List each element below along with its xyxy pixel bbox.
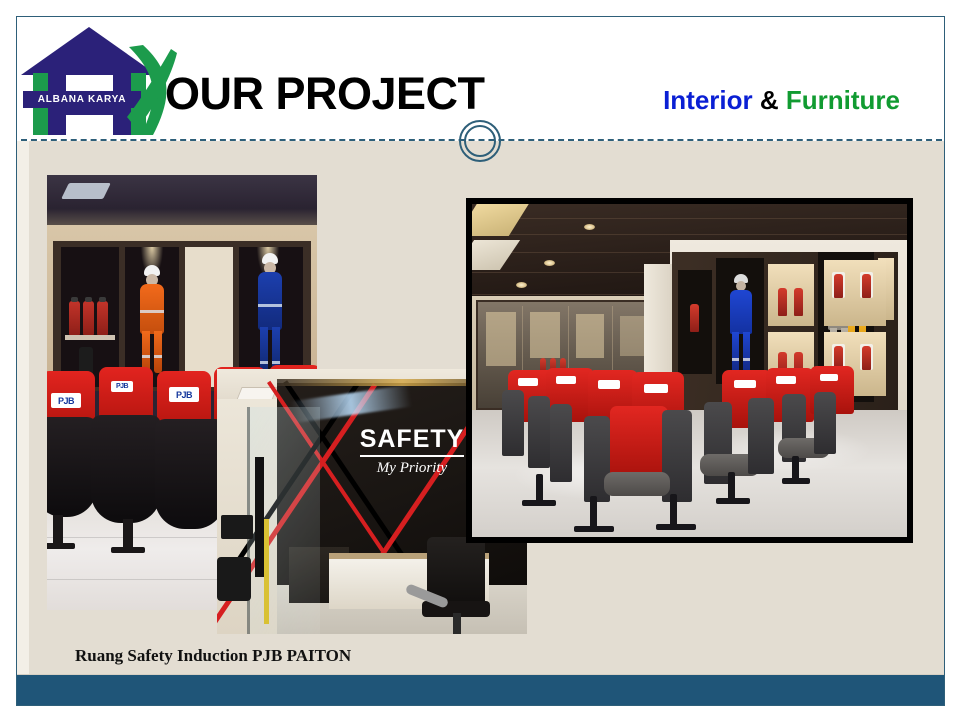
render-seat-side — [814, 392, 836, 454]
fire-extinguisher-icon — [83, 301, 94, 335]
seat-brand-logo — [518, 378, 538, 386]
render-skylight-secondary — [466, 240, 520, 270]
seat-brand-logo: PJB — [51, 393, 81, 408]
seat-brand-logo: PJB — [169, 387, 199, 402]
lobby-yellow-edge — [264, 519, 269, 624]
auditorium-seat-base — [91, 415, 161, 523]
slide-header: ALBANA KARYA OUR PROJECT Interior & Furn… — [17, 17, 944, 141]
seat-brand-logo — [734, 380, 756, 388]
lobby-black-post — [255, 457, 264, 577]
render-seat-side — [748, 398, 774, 474]
render-seat-foot — [716, 498, 750, 504]
cabinet-bay — [678, 270, 712, 374]
room-ceiling — [47, 175, 317, 231]
subtitle-furniture: Furniture — [786, 85, 900, 115]
mannequin-orange-coverall — [137, 265, 167, 373]
render-seat-frame — [590, 496, 597, 530]
slide-canvas: PJB PJB PJB PJB — [17, 141, 944, 674]
cabinet-bay — [716, 258, 764, 384]
fire-extinguisher-icon — [862, 346, 871, 370]
mannequin-blue-coverall — [255, 253, 285, 379]
cabinet-shelf — [65, 335, 115, 340]
seat-brand-logo: PJB — [111, 381, 133, 392]
lobby-equipment-box — [221, 515, 253, 539]
seat-brand-logo — [556, 376, 576, 384]
seat-foot — [47, 543, 75, 549]
fire-extinguisher-icon — [690, 304, 699, 332]
ceiling-light-panel — [61, 183, 111, 199]
ceiling-downlight-icon — [544, 260, 555, 266]
render-seat-foot — [782, 478, 810, 484]
render-seat-side — [502, 390, 524, 456]
fire-extinguisher-icon — [862, 274, 871, 298]
cabinet-niche-orange-mannequin — [125, 247, 179, 387]
seat-pedestal — [123, 519, 133, 549]
auditorium-seat-base — [155, 419, 225, 529]
mannequin-torso — [258, 272, 282, 330]
render-seat-foot — [574, 526, 614, 532]
office-chair-stem — [453, 613, 461, 634]
page-title: OUR PROJECT — [165, 68, 485, 120]
slide-footer-bar — [17, 674, 944, 706]
cabinet-niche-extinguishers — [61, 247, 119, 387]
render-seat-side — [550, 404, 572, 482]
lobby-equipment-case — [217, 557, 251, 601]
render-seat-back — [610, 406, 668, 478]
fire-extinguisher-icon — [834, 274, 843, 298]
render-seat-frame — [792, 456, 799, 480]
subtitle-separator: & — [760, 85, 779, 115]
presentation-slide: ALBANA KARYA OUR PROJECT Interior & Furn… — [16, 16, 945, 706]
mannequin-torso — [730, 290, 752, 334]
seat-brand-logo — [644, 384, 668, 393]
albana-karya-logo: ALBANA KARYA — [21, 25, 157, 137]
seat-brand-logo — [598, 380, 620, 389]
canvas-left-strip — [17, 141, 29, 674]
seat-brand-logo — [776, 376, 796, 384]
render-seat-cushion — [604, 472, 670, 496]
header-subtitle: Interior & Furniture — [663, 85, 900, 116]
wall-sign-line2: My Priority — [357, 460, 467, 477]
cabinet-niche-light-panel — [185, 247, 233, 387]
logo-banner-text: ALBANA KARYA — [23, 91, 141, 108]
divider-circle-ornament — [459, 120, 501, 162]
mannequin-torso — [140, 284, 164, 334]
slide-caption: Ruang Safety Induction PJB PAITON — [75, 646, 351, 666]
seat-brand-logo — [820, 374, 838, 381]
fire-extinguisher-icon — [778, 288, 787, 316]
render-seat-side — [528, 396, 550, 468]
render-extinguisher-display-upper — [824, 260, 886, 326]
seat-foot — [111, 547, 145, 553]
mannequin-blue-coverall — [728, 274, 754, 370]
auditorium-seat-base — [47, 417, 97, 517]
wall-sign-safety: SAFETY My Priority — [357, 425, 467, 477]
photo-3d-render-auditorium[interactable] — [466, 198, 913, 543]
render-seat-frame — [670, 494, 677, 528]
fire-extinguisher-icon — [97, 301, 108, 335]
render-seat-foot — [656, 524, 696, 530]
render-seat-frame — [536, 474, 543, 502]
ceiling-downlight-icon — [584, 224, 595, 230]
fire-extinguisher-icon — [794, 288, 803, 316]
ceiling-downlight-icon — [516, 282, 527, 288]
mannequin-legs — [732, 332, 750, 370]
subtitle-interior: Interior — [663, 85, 753, 115]
render-seat-foot — [522, 500, 556, 506]
render-seat-frame — [728, 472, 735, 500]
wall-sign-line1: SAFETY — [360, 425, 465, 457]
seat-pedestal — [53, 515, 63, 545]
fire-extinguisher-icon — [69, 301, 80, 335]
cabinet-bay-lit — [768, 264, 814, 326]
divider-circle-inner-ring — [464, 125, 496, 157]
